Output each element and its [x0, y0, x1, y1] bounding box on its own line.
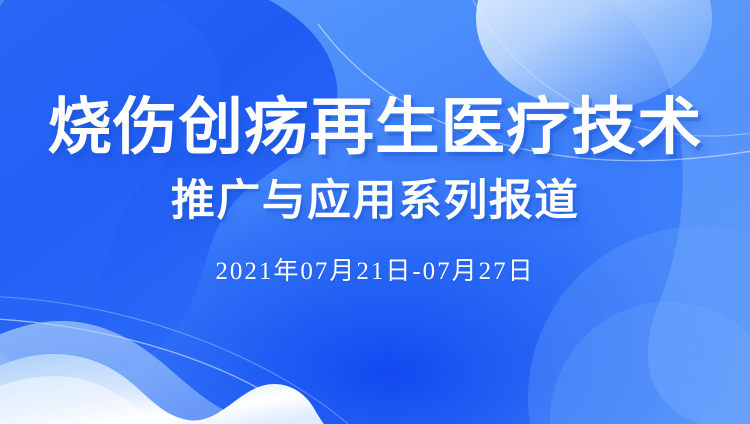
banner-poster: 烧伤创疡再生医疗技术 推广与应用系列报道 2021年07月21日-07月27日	[0, 0, 750, 424]
banner-date-range: 2021年07月21日-07月27日	[215, 251, 534, 287]
banner-subtitle: 推广与应用系列报道	[171, 179, 580, 224]
banner-title: 烧伤创疡再生医疗技术	[47, 96, 702, 159]
banner-content: 烧伤创疡再生医疗技术 推广与应用系列报道 2021年07月21日-07月27日	[0, 0, 750, 424]
